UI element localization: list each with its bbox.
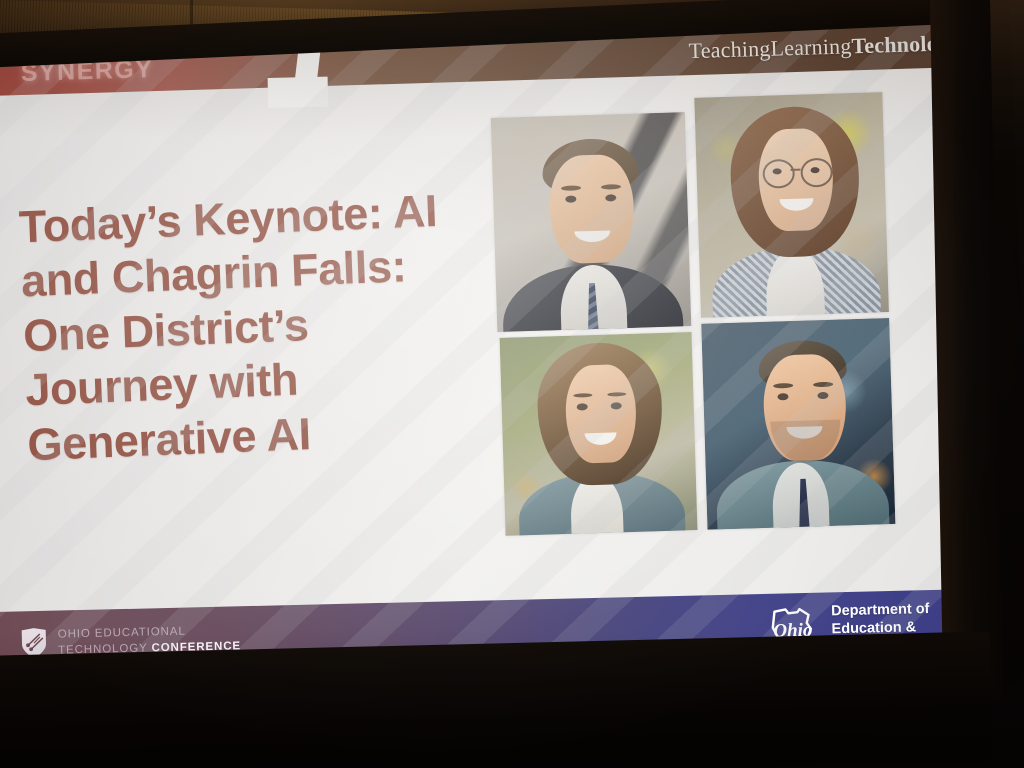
page-title: Today’s Keynote: AI and Chagrin Falls: O… [18,184,458,473]
title-block: Today’s Keynote: AI and Chagrin Falls: O… [18,184,458,473]
top-band-notch-secondary [268,77,329,108]
headshot-1-face [548,154,635,265]
odew-line-1: Department of [831,600,930,621]
speaker-headshot-1 [491,112,691,332]
speaker-headshot-3 [500,332,698,536]
auditorium-room: SYNERGY TeachingLearningTechnology Today… [0,0,1024,768]
speaker-headshot-4 [701,318,895,530]
projection-screen: SYNERGY TeachingLearningTechnology Today… [0,12,970,672]
headshot-3-face [564,364,637,464]
presentation-slide: SYNERGY TeachingLearningTechnology Today… [0,12,970,672]
teaching-learning-technology-wordmark: TeachingLearningTechnology [688,30,960,64]
screen-bezel-bottom [0,631,993,768]
headshot-2-glasses-bridge [791,169,801,172]
speaker-headshot-2 [694,92,889,318]
screen-bezel-right [930,0,1003,700]
tlt-regular-part: TeachingLearning [688,33,852,63]
speaker-photo-grid [490,92,895,536]
